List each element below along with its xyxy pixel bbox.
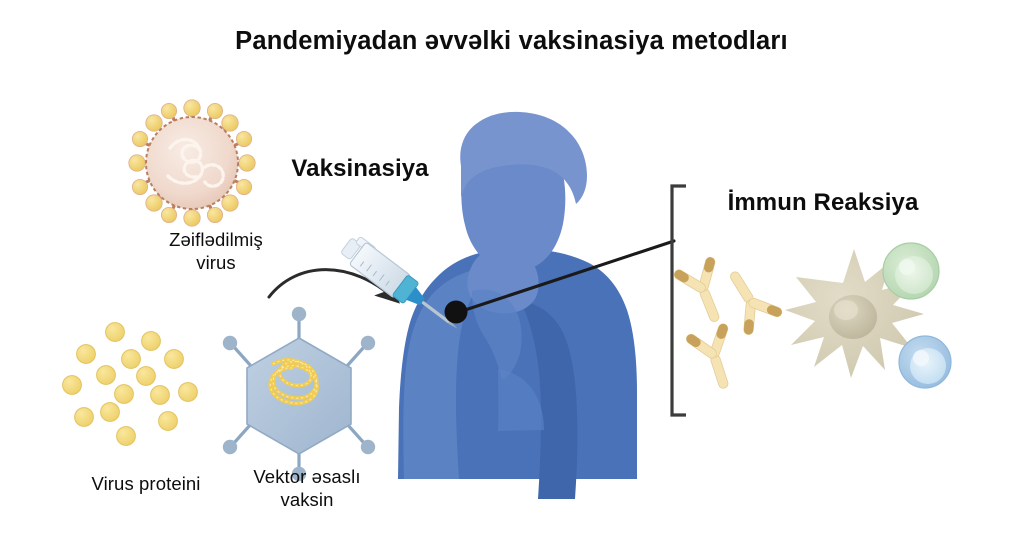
- attenuated-virus-label: Zəiflədilmiş virus: [108, 229, 324, 274]
- virus-protein-dots-icon: [63, 323, 198, 446]
- lymphocyte-green-icon: [883, 243, 939, 299]
- lymphocyte-blue-icon: [899, 336, 951, 388]
- injection-point-icon: [445, 301, 468, 324]
- vaccination-heading: Vaksinasiya: [255, 154, 465, 183]
- immune-response-bracket-icon: [672, 186, 686, 415]
- vector-vaccine-label: Vektor əsaslı vaksin: [212, 466, 402, 511]
- antibody-icon: [670, 253, 737, 329]
- diagram-canvas: Pandemiyadan əvvəlki vaksinasiya metodla…: [0, 0, 1023, 557]
- attenuated-virus-icon: [129, 100, 255, 226]
- page-title: Pandemiyadan əvvəlki vaksinasiya metodla…: [0, 26, 1023, 57]
- vector-vaccine-icon: [223, 307, 375, 481]
- immune-response-heading: İmmun Reaksiya: [678, 188, 968, 217]
- antibody-icon: [683, 320, 747, 395]
